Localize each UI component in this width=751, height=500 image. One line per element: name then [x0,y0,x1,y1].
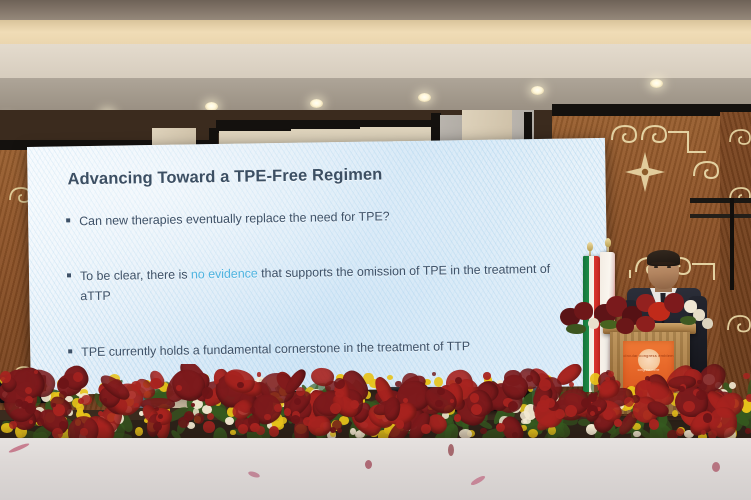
projection-screen-surface: Advancing Toward a TPE-Free Regimen Can … [27,138,609,395]
garland-rose-red [455,377,462,384]
projection-screen: Advancing Toward a TPE-Free Regimen Can … [27,138,609,395]
garland-rose-red [176,385,182,391]
garland-rose-red [334,378,345,389]
garland-rose-red [678,386,685,393]
fallen-petal [470,474,486,486]
garland-flower-yellow [387,375,393,380]
fallen-petal [365,460,372,469]
garland-rose-red [202,387,214,399]
garland-rose-red [264,414,270,420]
garland-rose-red [29,420,33,424]
wall-rail-dark-2 [690,214,751,218]
garland-rose-red [471,404,482,415]
bullet-marker-icon [67,273,71,277]
garland-rose-red [58,378,69,389]
fallen-petal [712,462,720,472]
slide-bullet-list: Can new therapies eventually replace the… [66,203,582,362]
garland-rose-red [703,413,713,423]
garland-flower-yellow [672,410,678,417]
garland-flower-white [729,382,736,389]
garland-rose-red [59,391,67,399]
garland-rose-red [539,379,551,391]
garland-rose-red [696,390,707,401]
slide-bullet-3: TPE currently holds a fundamental corner… [68,335,582,363]
garland-rose-red [483,372,490,379]
speaker-brow-shadow [651,262,675,265]
garland-rose-red [296,387,305,396]
wall-pole-vertical [730,198,734,290]
garland-rose-red [697,380,702,385]
fallen-petal [8,442,30,454]
garland-rose-red [37,418,45,426]
stage-floral-garland [0,364,751,442]
garland-rose-red [605,377,610,382]
garland-rose-red [569,382,574,387]
garland-rose-red [98,411,103,416]
garland-rose-red [103,398,107,402]
garland-rose-red [540,395,551,406]
garland-rose-red [237,382,244,389]
slide-title: Advancing Toward a TPE-Free Regimen [67,162,579,189]
garland-rose-red [743,373,750,380]
garland-rose-red [435,400,443,408]
garland-rose-red [0,371,11,382]
garland-rose-red [291,415,300,424]
flag-finial-icon [605,238,611,247]
flag-finial-icon [587,242,593,251]
bullet-marker-icon [68,350,72,354]
bullet-marker-icon [66,218,70,222]
garland-rose-red [207,413,214,420]
conference-photo: Advancing Toward a TPE-Free Regimen Can … [0,0,751,500]
garland-rose-red [432,372,436,376]
fallen-petal [448,444,454,456]
fallen-petal [248,470,261,478]
slide-content: Advancing Toward a TPE-Free Regimen Can … [27,138,609,395]
garland-rose-red [526,375,533,382]
garland-rose-red [470,393,479,402]
garland-rose-red [437,388,445,396]
garland-rose-red [588,393,597,402]
slide-bullet-2: To be clear, there is no evidence that s… [67,258,582,306]
stage-front-wall [0,438,751,500]
ceiling-spotlight-icon [418,93,431,102]
garland-rose-red [590,411,595,416]
garland-flower-white [225,417,234,425]
slide-bullet-1: Can new therapies eventually replace the… [66,203,580,231]
garland-rose-red [194,413,204,423]
ceiling-soffit [0,44,751,82]
garland-rose-red [78,398,84,404]
wall-rail-dark [690,198,751,203]
speaker-eye-left [654,266,658,268]
garland-rose-red [257,372,262,377]
podium-emblem-text: circular congress emblem [623,353,673,358]
bullet-3-text: TPE currently holds a fundamental corner… [81,336,470,362]
garland-rose-red [683,401,694,412]
garland-rose-red [250,407,256,413]
garland-rose-red [34,370,38,374]
bullet-1-text: Can new therapies eventually replace the… [79,206,390,231]
bullet-2-text: To be clear, there is no evidence that s… [80,258,582,306]
ceiling-spotlight-icon [310,99,323,108]
garland-rose-red [746,394,751,403]
speaker-eye-right [667,266,671,268]
ceiling-spotlight-icon [650,79,663,88]
garland-rose-red [395,381,402,388]
bullet-2-part-1: To be clear, there is [80,268,191,284]
bullet-2-highlight: no evidence [191,266,258,281]
ceiling-spotlight-icon [531,86,544,95]
